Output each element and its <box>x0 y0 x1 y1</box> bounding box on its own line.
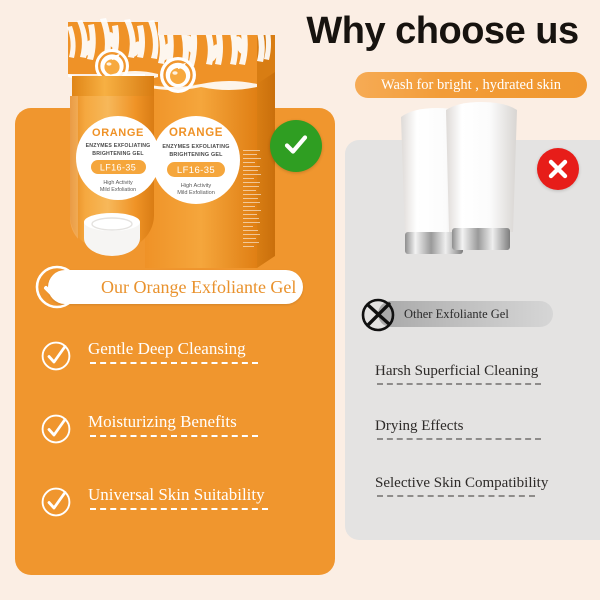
cons-heading-label: Other Exfoliante Gel <box>404 301 509 327</box>
pros-heading-label: Our Orange Exfoliante Gel <box>101 270 296 304</box>
check-icon <box>283 132 309 158</box>
feature-label: Moisturizing Benefits <box>88 409 237 435</box>
drawback-label: Harsh Superficial Cleaning <box>375 360 538 382</box>
drawback-item: Harsh Superficial Cleaning <box>375 360 590 400</box>
check-circle-icon <box>40 413 72 445</box>
feature-item: Moisturizing Benefits <box>40 409 315 455</box>
drawback-label: Selective Skin Compatibility <box>375 472 548 494</box>
cons-heading-pill: Other Exfoliante Gel <box>378 301 553 327</box>
page-title: Why choose us <box>290 8 595 54</box>
red-cross-badge <box>537 148 579 190</box>
feature-underline <box>90 508 268 510</box>
drawback-underline <box>377 438 541 440</box>
drawback-item: Selective Skin Compatibility <box>375 472 590 512</box>
feature-item: Universal Skin Suitability <box>40 482 315 528</box>
feature-underline <box>90 362 258 364</box>
subtitle-pill: Wash for bright , hydrated skin <box>355 72 587 98</box>
close-icon <box>546 157 570 181</box>
drawback-underline <box>377 495 535 497</box>
pros-heading-pill: Our Orange Exfoliante Gel <box>48 270 303 304</box>
feature-underline <box>90 435 258 437</box>
drawback-underline <box>377 383 541 385</box>
drawback-label: Drying Effects <box>375 415 463 437</box>
pros-check-icon <box>33 263 81 311</box>
feature-label: Gentle Deep Cleansing <box>88 336 246 362</box>
check-circle-icon <box>40 340 72 372</box>
feature-label: Universal Skin Suitability <box>88 482 265 508</box>
feature-item: Gentle Deep Cleansing <box>40 336 315 382</box>
check-circle-icon <box>40 486 72 518</box>
cons-cross-icon <box>359 296 397 334</box>
green-check-badge <box>270 120 322 172</box>
drawback-item: Drying Effects <box>375 415 590 455</box>
